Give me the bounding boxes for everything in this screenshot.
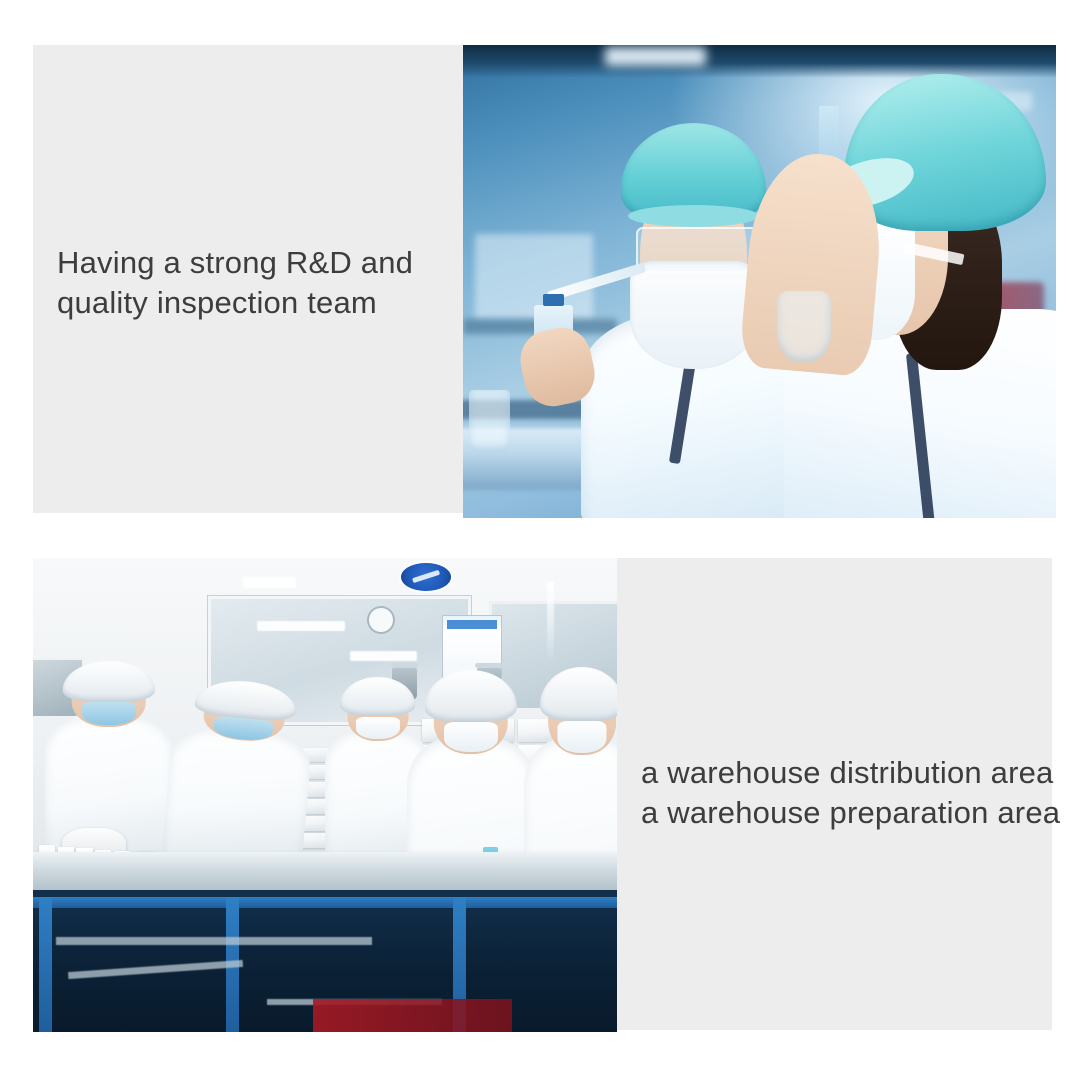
window-light	[350, 651, 417, 661]
face-mask	[82, 702, 136, 725]
warehouse-packing-photo	[33, 558, 617, 1032]
face-mask	[355, 717, 399, 740]
warehouse-caption-line-1: a warehouse distribution area	[641, 753, 1060, 793]
stainless-table-top	[33, 852, 617, 895]
blue-sign-icon	[401, 563, 451, 591]
table-frame-rail	[33, 897, 617, 908]
banner-stage: Having a strong R&D and quality inspecti…	[0, 0, 1080, 1080]
hanging-strip	[547, 582, 554, 658]
rd-caption: Having a strong R&D and quality inspecti…	[57, 243, 413, 323]
glass-flask	[777, 291, 830, 362]
rd-caption-line-1: Having a strong R&D and	[57, 243, 413, 283]
window-light	[257, 621, 344, 631]
warehouse-caption: a warehouse distribution area a warehous…	[641, 753, 1060, 833]
safety-glasses	[636, 227, 757, 273]
face-mask	[444, 722, 498, 752]
hair-net	[621, 123, 766, 223]
warehouse-caption-line-2: a warehouse preparation area	[641, 793, 1060, 833]
floor-marking	[313, 999, 512, 1032]
under-shelf-rail	[56, 937, 371, 945]
rd-lab-photo	[463, 45, 1056, 518]
beaker	[469, 390, 511, 451]
table-frame-leg	[39, 897, 52, 1032]
rd-caption-line-2: quality inspection team	[57, 283, 413, 323]
face-mask	[557, 721, 606, 752]
face-mask	[630, 261, 758, 368]
ceiling-lamp	[243, 577, 296, 588]
hair-net	[844, 74, 1046, 231]
